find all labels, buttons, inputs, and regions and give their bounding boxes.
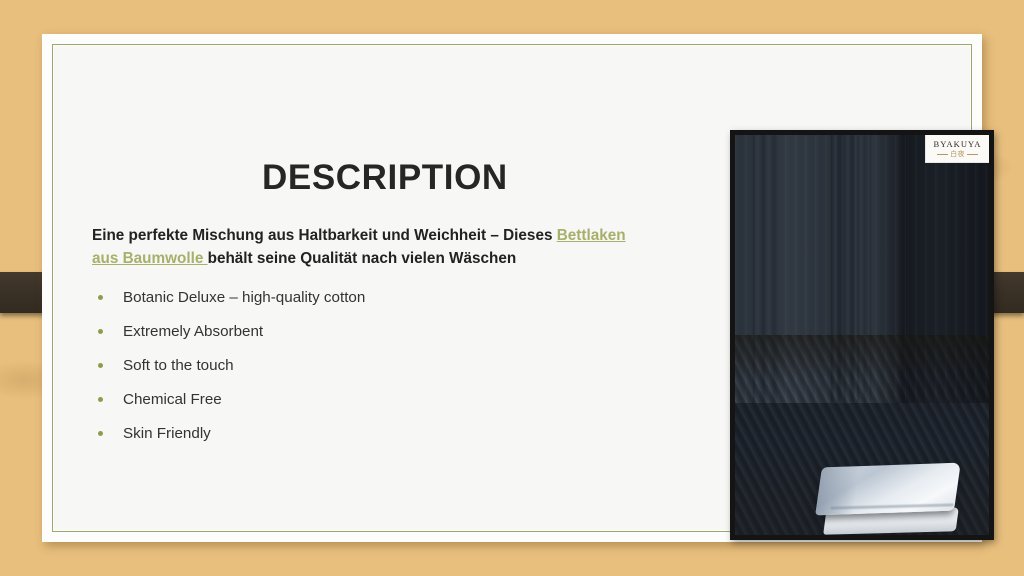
list-item: Chemical Free (92, 382, 612, 416)
list-item: Soft to the touch (92, 348, 612, 382)
bullet-dot-icon (98, 363, 103, 368)
slide-frame: DESCRIPTION Eine perfekte Mischung aus H… (42, 34, 982, 542)
list-item-label: Chemical Free (123, 391, 222, 408)
lead-text-after: behält seine Qualität nach vielen Wäsche… (208, 250, 517, 267)
bullet-dot-icon (98, 431, 103, 436)
brand-logo: BYAKUYA 白夜 (925, 135, 989, 163)
feature-list: Botanic Deluxe – high-quality cotton Ext… (92, 280, 612, 450)
bullet-dot-icon (98, 397, 103, 402)
list-item: Skin Friendly (92, 416, 612, 450)
list-item-label: Soft to the touch (123, 357, 234, 374)
page-title: DESCRIPTION (262, 158, 508, 198)
brand-logo-subline: 白夜 (937, 150, 978, 158)
list-item: Botanic Deluxe – high-quality cotton (92, 280, 612, 314)
list-item-label: Botanic Deluxe – high-quality cotton (123, 289, 365, 306)
bullet-dot-icon (98, 295, 103, 300)
logo-rule-left (937, 154, 948, 155)
list-item-label: Extremely Absorbent (123, 323, 263, 340)
brand-logo-wordmark: BYAKUYA (934, 139, 982, 149)
logo-rule-right (967, 154, 978, 155)
bullet-dot-icon (98, 329, 103, 334)
photo-scene: BYAKUYA 白夜 (735, 135, 989, 535)
list-item: Extremely Absorbent (92, 314, 612, 348)
lead-paragraph: Eine perfekte Mischung aus Haltbarkeit u… (92, 224, 652, 270)
lead-text-before: Eine perfekte Mischung aus Haltbarkeit u… (92, 227, 557, 244)
slide-canvas: DESCRIPTION Eine perfekte Mischung aus H… (54, 46, 970, 530)
list-item-label: Skin Friendly (123, 425, 211, 442)
product-photo: BYAKUYA 白夜 (730, 130, 994, 540)
brand-logo-kanji: 白夜 (950, 150, 965, 158)
